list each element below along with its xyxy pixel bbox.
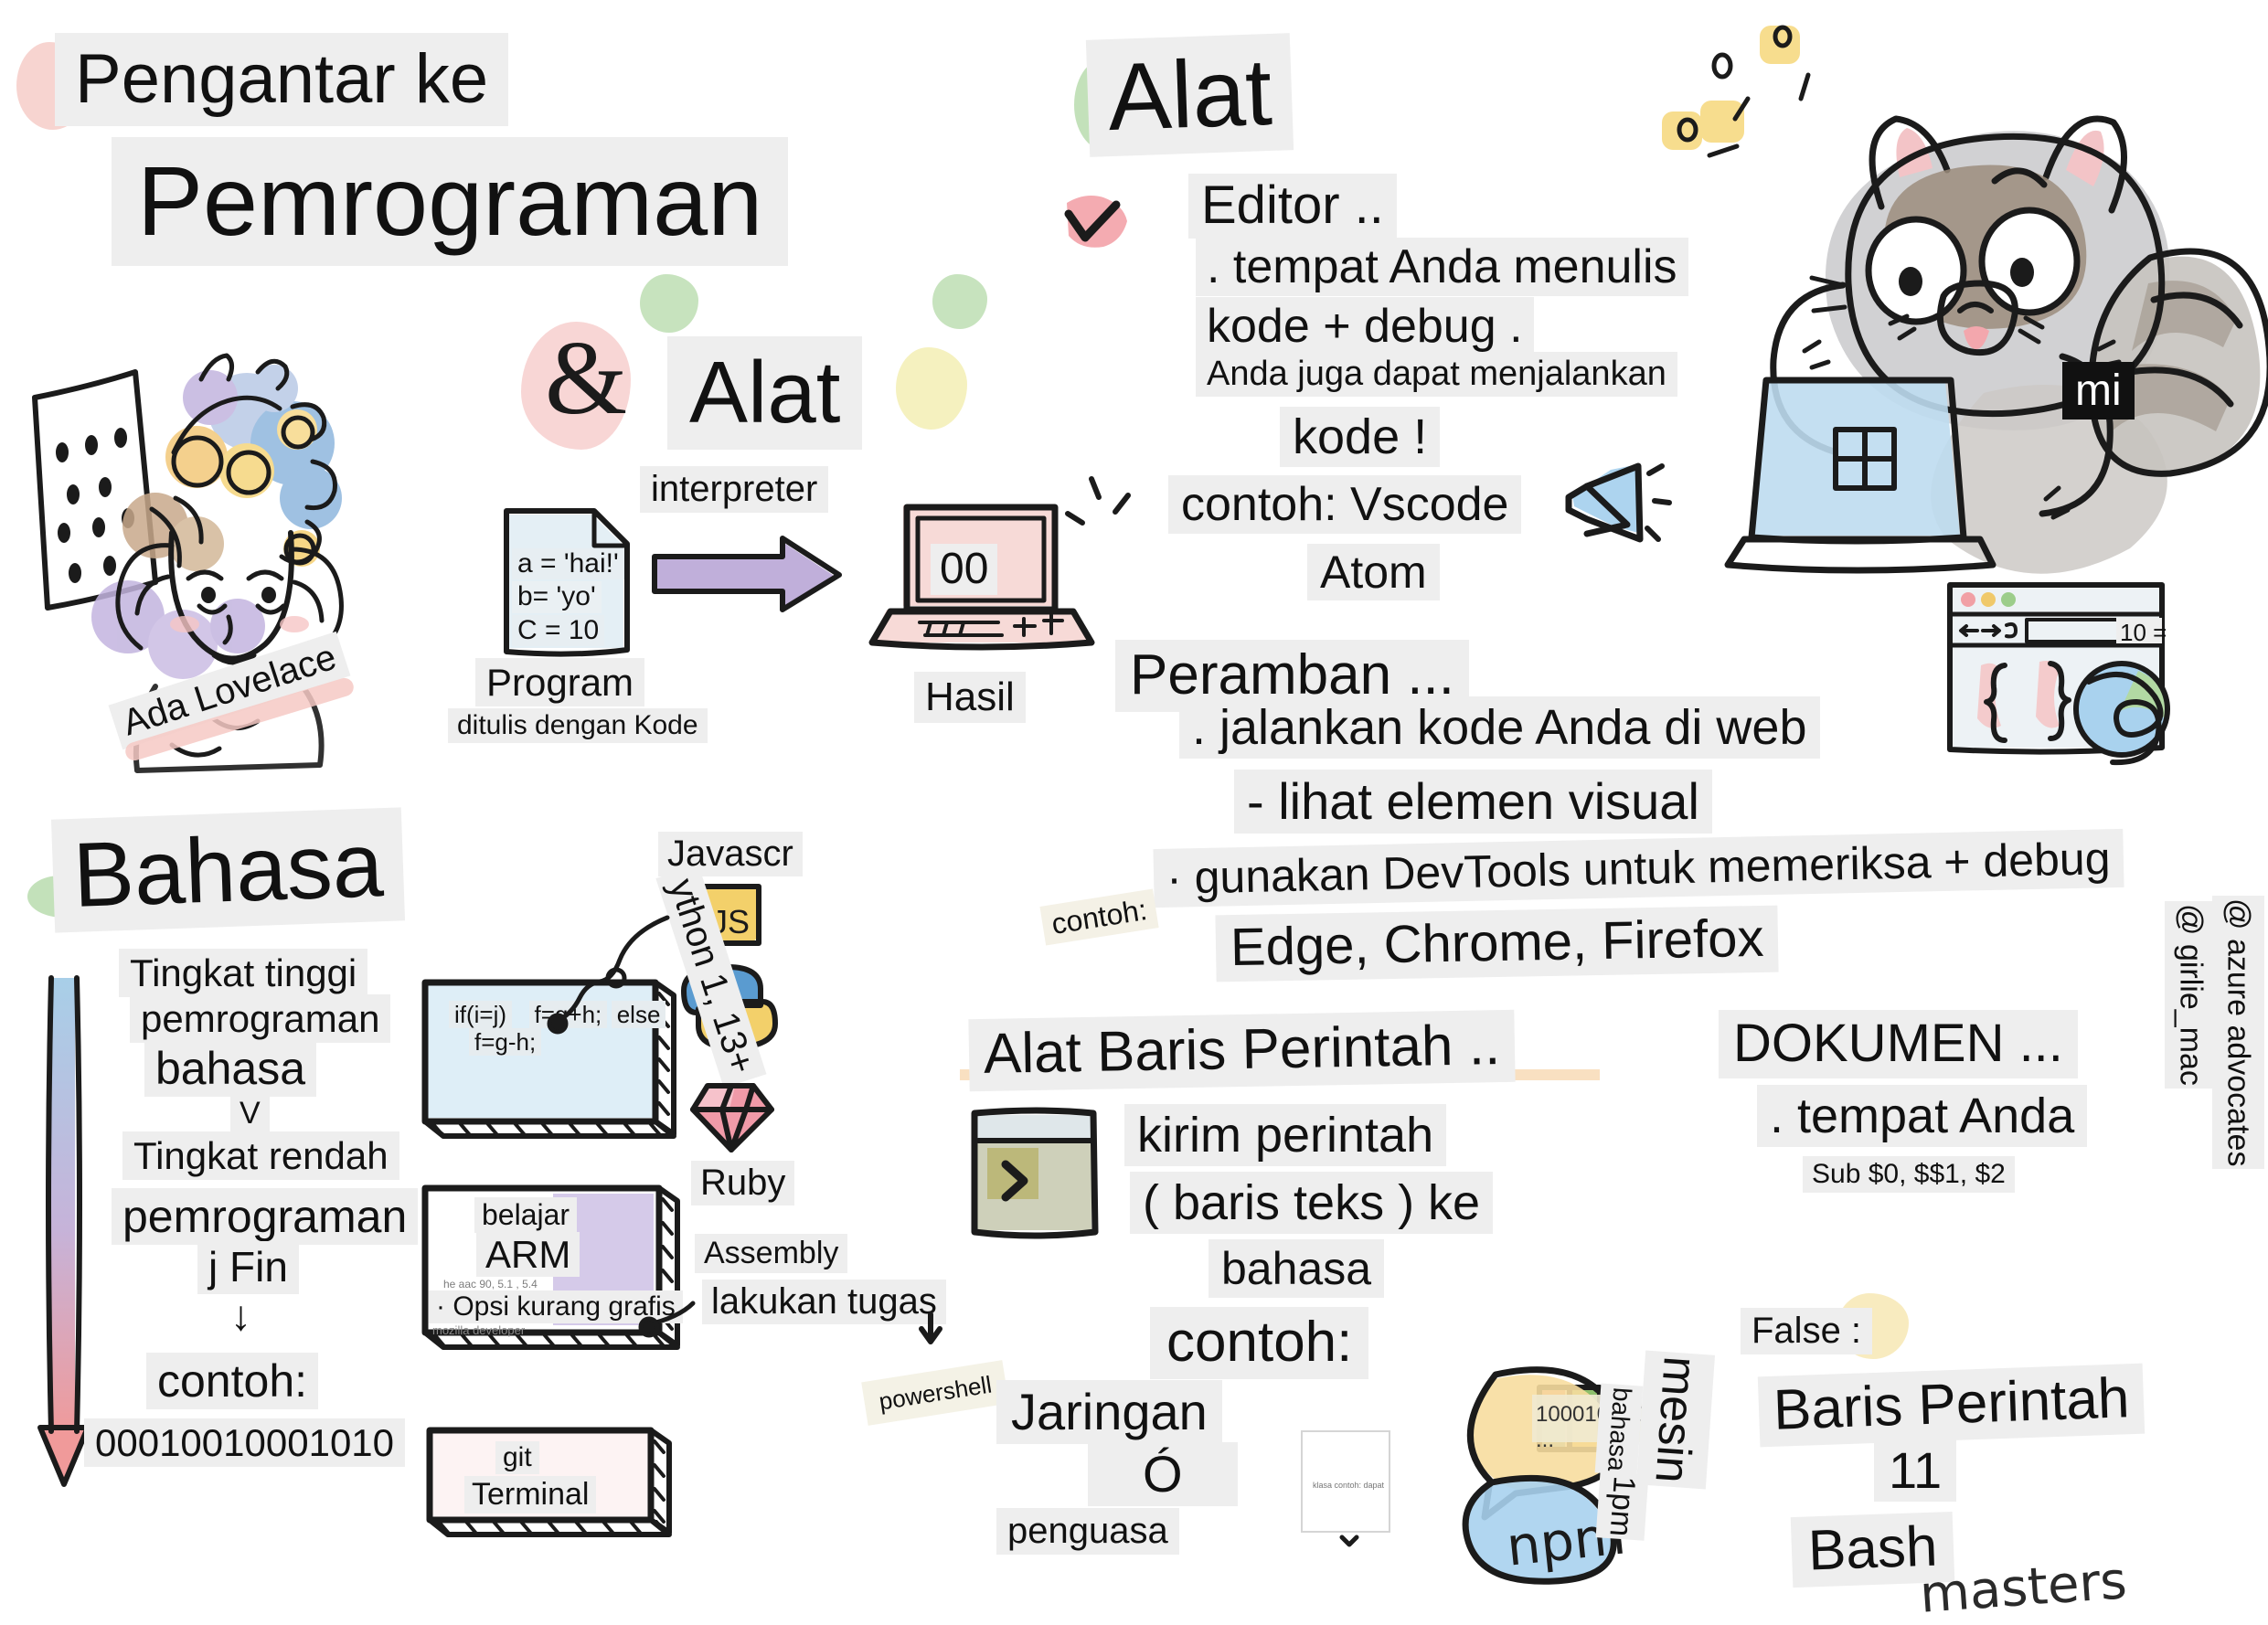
peramban-line-3: · gunakan DevTools untuk memeriksa + deb…	[1153, 829, 2124, 908]
peramban-line-2: - lihat elemen visual	[1234, 770, 1712, 834]
editor-line-2: kode + debug .	[1196, 297, 1534, 356]
bahasa-line-6: j Fin	[197, 1241, 299, 1294]
interpreter-arrow-icon	[649, 526, 859, 626]
browser-url-text: 10 =	[2120, 619, 2167, 647]
code-line-2: b= 'yo'	[512, 581, 602, 612]
bahasa-heading: Bahasa	[51, 807, 405, 932]
ada-lovelace-illustration: Ada Lovelace	[18, 315, 475, 772]
ruby-icon	[689, 1071, 781, 1163]
rot-1pm-label: 1pm	[1596, 1471, 1649, 1541]
editor-line-3: Anda juga dapat menjalankan	[1196, 352, 1677, 397]
arm-line-1: belajar	[474, 1197, 577, 1233]
decor-blob-green-2	[932, 274, 987, 329]
title-line-3: Alat	[667, 336, 862, 450]
penguasa-label: penguasa	[996, 1508, 1179, 1555]
decor-blob-green-1	[640, 274, 698, 333]
program-label: Program	[475, 658, 644, 706]
assembly-down-arrow-icon	[914, 1309, 960, 1354]
check-mark-icon	[1056, 183, 1138, 265]
cli-line-3: bahasa	[1209, 1239, 1384, 1298]
bahasa-line-4: Tingkat rendah	[122, 1131, 399, 1180]
raccoon-drawing	[1645, 9, 2268, 576]
peramban-contoh-tag: contoh:	[1039, 888, 1158, 945]
spark-lines-icon	[1060, 475, 1179, 594]
code-line-3: C = 10	[512, 615, 604, 646]
alat-heading: Alat	[1086, 33, 1294, 157]
terminal-line-2: Terminal	[464, 1476, 596, 1513]
raccoon-illustration: mi	[1645, 9, 2268, 576]
dokumen-false-label: False :	[1741, 1308, 1872, 1354]
terminal-box-card: git Terminal	[421, 1421, 686, 1549]
powershell-label: powershell	[861, 1360, 1009, 1426]
rot-mesin-label: mesin	[1636, 1351, 1715, 1490]
cli-line-2: ( baris teks ) ke	[1130, 1172, 1493, 1234]
editor-title: Editor ..	[1188, 174, 1397, 239]
cli-heading: Alat Baris Perintah ..	[968, 1010, 1515, 1091]
result-label: Hasil	[914, 672, 1026, 723]
dokumen-line-3: 11	[1874, 1439, 1956, 1502]
decor-blob-yellow-1	[896, 347, 967, 430]
raccoon-badge: mi	[2062, 362, 2135, 420]
editor-line-4: kode !	[1280, 407, 1440, 467]
credit-line-2: @ girlie_mac	[2165, 901, 2217, 1089]
cli-line-1: kirim perintah	[1124, 1104, 1446, 1166]
ruby-label: Ruby	[691, 1161, 794, 1205]
code-line-1: a = 'hai!'	[512, 548, 624, 579]
bahasa-line-2: pemrograman	[130, 994, 390, 1043]
codebox-line-1: if(i=j)	[449, 1001, 512, 1028]
bahasa-line-5: pemrograman	[112, 1188, 418, 1245]
program-code-lines: a = 'hai!' b= 'yo' C = 10	[512, 548, 624, 646]
interpreter-label: interpreter	[640, 466, 828, 513]
assembly-connector-icon	[640, 1280, 750, 1353]
dokumen-line-2: Baris Perintah	[1758, 1364, 2146, 1448]
cli-line-4: contoh:	[1150, 1307, 1368, 1379]
bahasa-line-3: bahasa	[144, 1040, 316, 1097]
svg-text:klasa contoh: dapat: klasa contoh: dapat	[1313, 1481, 1385, 1490]
editor-line-1: . tempat Anda menulis	[1196, 238, 1688, 296]
jaringan-label-2: Ó	[1088, 1442, 1238, 1506]
result-screen-text: 00	[931, 544, 997, 595]
dokumen-sub: Sub $0, $$1, $2	[1803, 1156, 2015, 1193]
browser-window-illustration: 10 =	[1943, 576, 2217, 777]
ampersand-glyph: &	[545, 318, 627, 440]
jaringan-label: Jaringan	[996, 1380, 1222, 1444]
dokumen-line-1: . tempat Anda	[1757, 1085, 2087, 1147]
browser-drawing	[1943, 576, 2217, 777]
editor-line-6: Atom	[1307, 544, 1440, 600]
bahasa-down-arrow: ↓	[230, 1290, 251, 1340]
arm-line-2: ARM	[476, 1232, 580, 1277]
arm-tiny-2: mozilla developer	[432, 1323, 525, 1337]
assembly-label: Assembly	[695, 1234, 847, 1273]
peramban-line-1: . jalankan kode Anda di web	[1179, 696, 1820, 759]
editor-line-5: contoh: Vscode	[1168, 475, 1521, 534]
dokumen-heading: DOKUMEN ...	[1719, 1010, 2078, 1078]
program-sub-label: ditulis dengan Kode	[448, 708, 708, 743]
bahasa-line-1: Tingkat tinggi	[119, 949, 367, 997]
title-line-1: Pengantar ke	[55, 33, 508, 126]
bahasa-binary: 00010010001010	[84, 1418, 405, 1467]
bahasa-v-label: V	[230, 1095, 270, 1132]
connector-squiggle-icon	[521, 912, 676, 1067]
bahasa-line-7: contoh:	[146, 1353, 318, 1409]
arm-tiny-1: he aac 90, 5.1 , 5.4	[443, 1278, 538, 1290]
peramban-line-4: Edge, Chrome, Firefox	[1215, 906, 1779, 982]
rot-bahasa-label: bahasa	[1595, 1384, 1644, 1476]
cli-terminal-icon	[962, 1100, 1126, 1256]
terminal-line-1: git	[495, 1441, 539, 1474]
small-doc-card-icon: klasa contoh: dapat	[1296, 1428, 1397, 1546]
title-line-2: Pemrograman	[112, 137, 788, 266]
credit-line-1: @ azure advocates	[2212, 896, 2264, 1169]
